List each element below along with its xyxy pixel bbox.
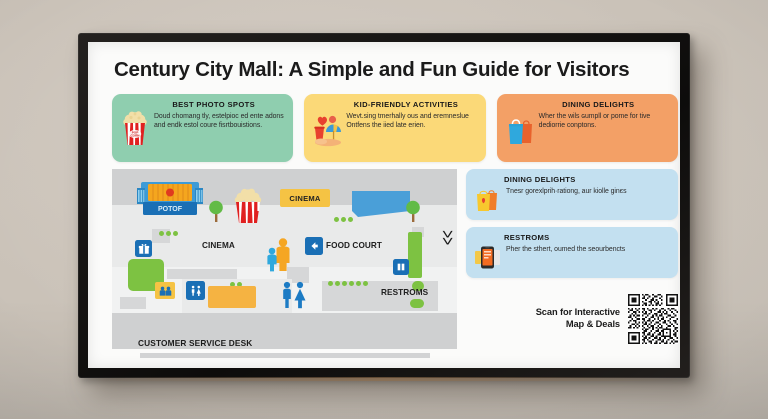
card-title: DINING DELIGHTS: [527, 100, 670, 109]
restroom-figures-icon: [279, 281, 309, 311]
seating-icon[interactable]: [155, 282, 175, 299]
card-title: BEST PHOTO SPOTS: [142, 100, 285, 109]
side-card-body: Pher the sthert, oumed the seourbencts: [474, 244, 670, 271]
map-popcorn-icon: [232, 187, 264, 225]
qr-caption-line-2: Map & Deals: [536, 319, 620, 331]
beach-toys-icon: [312, 110, 342, 146]
map-dots-upper: [334, 217, 353, 222]
side-card-dining-delights[interactable]: DINING DELIGHTS Tnesr gorexlprih·rationg…: [466, 169, 678, 220]
picture-frame: Century City Mall: A Simple and Fun Guid…: [78, 33, 690, 378]
map-label-cinema: CINEMA: [202, 241, 235, 250]
card-body: Wevt.sing tmerhally ous and eremneslue O…: [312, 111, 477, 146]
card-body: POP CORN Doud chomang tly, estelpioc ed …: [120, 111, 285, 146]
mall-map[interactable]: POTOF: [112, 169, 457, 349]
family-icon: [264, 237, 292, 273]
card-dining-delights[interactable]: DINING DELIGHTS Wher the wil: [497, 94, 678, 162]
card-text: Wher the wils ɢumpll or pome for tive de…: [539, 111, 670, 130]
side-info-cards: DINING DELIGHTS Tnesr gorexlprih·rationg…: [466, 169, 678, 278]
map-store-blue: [352, 191, 410, 222]
cinema-building: POTOF: [137, 176, 203, 220]
card-best-photo-spots[interactable]: BEST PHOTO SPOTS: [112, 94, 293, 162]
map-shop-orange: [208, 286, 256, 308]
map-label-restrooms: RESTROMS: [381, 288, 428, 297]
card-text: Doud chomang tly, estelpioc ed ente adon…: [154, 111, 285, 130]
side-card-body: Tnesr gorexlprih·rationg, aur kiolle gin…: [474, 186, 670, 213]
card-kid-friendly-activities[interactable]: KID-FRIENDLY ACTIVITIES: [304, 94, 485, 162]
side-card-restrooms[interactable]: RESTROMS Pher: [466, 227, 678, 278]
qr-caption: Scan for Interactive Map & Deals: [536, 307, 620, 330]
map-dots-lower-right: [328, 281, 368, 286]
page-title: Century City Mall: A Simple and Fun Guid…: [114, 58, 660, 82]
map-graphics: POTOF: [112, 169, 457, 349]
gift-icon[interactable]: [135, 240, 152, 257]
map-block-b: [167, 269, 237, 279]
elevator-icon[interactable]: [393, 259, 409, 275]
map-grass-right: [408, 232, 422, 278]
chevron-down-icon[interactable]: ⋁ ⋁: [443, 231, 452, 245]
svg-text:CORN: CORN: [130, 134, 140, 138]
shopping-bags-icon: [505, 110, 535, 146]
card-body: Wher the wils ɢumpll or pome for tive de…: [505, 111, 670, 146]
building-sign-text: POTOF: [158, 206, 183, 213]
side-card-title: RESTROMS: [504, 233, 670, 242]
map-label-food-court: FOOD COURT: [326, 241, 382, 250]
feature-cards-row: BEST PHOTO SPOTS: [112, 94, 678, 162]
popcorn-icon: POP CORN: [120, 110, 150, 146]
qr-section: Scan for Interactive Map & Deals: [466, 290, 678, 348]
card-title: KID-FRIENDLY ACTIVITIES: [334, 100, 477, 109]
restroom-icon[interactable]: [186, 281, 205, 300]
side-card-text: Pher the sthert, oumed the seourbencts: [506, 244, 625, 254]
gift-bags-icon: [474, 186, 501, 213]
map-grass-right-small-2: [410, 299, 424, 308]
map-block-d: [120, 297, 146, 309]
card-text: Wevt.sing tmerhally ous and eremneslue O…: [346, 111, 477, 130]
tag-cinema[interactable]: CINEMA: [280, 189, 330, 207]
map-tree-right: [405, 199, 421, 228]
poster-canvas: Century City Mall: A Simple and Fun Guid…: [88, 42, 680, 368]
qr-caption-line-1: Scan for Interactive: [536, 307, 620, 319]
qr-code-icon[interactable]: [628, 294, 678, 344]
map-bottom-strip: [140, 353, 430, 358]
left-arrow-icon[interactable]: [305, 237, 323, 255]
map-tree-left: [208, 199, 224, 228]
map-label-customer-service: CUSTOMER SERVICE DESK: [138, 338, 252, 348]
smartphone-icon: [474, 244, 501, 271]
map-dots-left: [159, 231, 178, 236]
side-card-text: Tnesr gorexlprih·rationg, aur kiolle gin…: [506, 186, 627, 196]
side-card-title: DINING DELIGHTS: [504, 175, 670, 184]
